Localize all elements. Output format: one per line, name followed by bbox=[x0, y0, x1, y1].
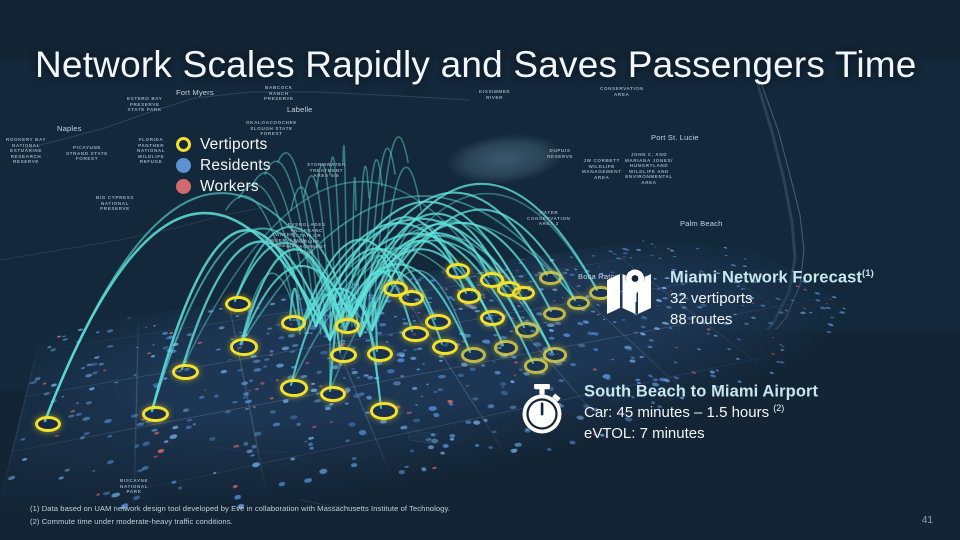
vertiport-marker bbox=[543, 307, 566, 322]
callout-heading-text: Miami Network Forecast bbox=[670, 269, 862, 287]
callout-heading: Miami Network Forecast(1) bbox=[670, 268, 874, 288]
map-label-park: JW CORBETT WILDLIFE MANAGEMENT AREA bbox=[582, 158, 621, 180]
vertiport-marker bbox=[370, 402, 398, 419]
map-label-park: JOHN C. AND MARIANA JONES/ HUNGRYLAND WI… bbox=[625, 152, 673, 186]
map-label-park: BIG CYPRESS NATIONAL PRESERVE bbox=[96, 195, 134, 212]
vertiport-marker bbox=[432, 339, 458, 355]
callout-text-block: South Beach to Miami Airport Car: 45 min… bbox=[584, 382, 818, 445]
vertiport-marker bbox=[399, 290, 424, 306]
vertiport-marker bbox=[281, 315, 306, 331]
vertiport-marker bbox=[425, 314, 451, 330]
map-label-park: STORMWATER TREATMENT AREA-5/6 bbox=[307, 162, 346, 179]
vertiport-marker bbox=[320, 386, 346, 402]
footnotes: (1) Data based on UAM network design too… bbox=[30, 503, 450, 528]
map-label-park: KISSIMMEE RIVER bbox=[479, 89, 510, 100]
legend-label-workers: Workers bbox=[200, 178, 259, 196]
vertiport-marker bbox=[494, 340, 518, 355]
map-label-park: ROOKERY BAY NATIONAL ESTUARINE RESEARCH … bbox=[6, 137, 46, 165]
map-label-park: WATER CONSERVATION AREA 1 bbox=[263, 232, 306, 249]
vertiport-marker bbox=[402, 326, 429, 343]
vertiport-marker bbox=[567, 296, 590, 311]
map-label-city: Port St. Lucie bbox=[651, 133, 699, 142]
vertiport-marker bbox=[225, 296, 251, 312]
vertiport-marker bbox=[524, 358, 548, 373]
callout-line-1-superscript: (2) bbox=[773, 403, 784, 413]
callout-text-block: Miami Network Forecast(1) 32 vertiports … bbox=[670, 268, 874, 331]
map-label-park: DUPUIS RESERVE bbox=[547, 148, 573, 159]
blue-dot-icon bbox=[176, 158, 191, 173]
yellow-ring-icon bbox=[176, 137, 191, 152]
callout-line-1: 32 vertiports bbox=[670, 288, 874, 309]
vertiport-marker bbox=[543, 347, 567, 362]
map-pin-icon bbox=[605, 268, 655, 321]
red-dot-icon bbox=[176, 179, 191, 194]
legend-label-residents: Residents bbox=[200, 157, 271, 175]
footnote-1: (1) Data based on UAM network design too… bbox=[30, 503, 450, 515]
callout-line-1: Car: 45 minutes – 1.5 hours (2) bbox=[584, 402, 818, 423]
callout-line-2: 88 routes bbox=[670, 309, 874, 330]
map-label-park: FLORIDA PANTHER NATIONAL WILDLIFE REFUGE bbox=[137, 137, 165, 165]
map-label-park: ESTERO BAY PRESERVE STATE PARK bbox=[127, 96, 162, 113]
map-label-park: PICAYUNE STRAND STATE FOREST bbox=[66, 145, 108, 162]
page-number: 41 bbox=[922, 515, 933, 526]
vertiport-marker bbox=[35, 416, 61, 432]
vertiport-marker bbox=[330, 347, 357, 364]
stopwatch-icon bbox=[515, 382, 569, 441]
callout-line-1-text: Car: 45 minutes – 1.5 hours bbox=[584, 404, 769, 421]
map-label-park: BABCOCK RANCH PRESERVE bbox=[264, 85, 294, 102]
vertiport-marker bbox=[512, 286, 535, 301]
footnote-2: (2) Commute time under moderate-heavy tr… bbox=[30, 516, 450, 528]
vertiport-marker bbox=[142, 406, 169, 423]
legend-item-vertiports: Vertiports bbox=[176, 134, 271, 155]
callout-line-2: eVTOL: 7 minutes bbox=[584, 423, 818, 444]
map-label-city: Labelle bbox=[287, 105, 313, 114]
map-label-park: WATER CONSERVATION AREA 2 bbox=[527, 210, 570, 227]
callout-miami-network-forecast: Miami Network Forecast(1) 32 vertiports … bbox=[605, 268, 874, 331]
page-title: Network Scales Rapidly and Saves Passeng… bbox=[35, 44, 917, 86]
map-legend: Vertiports Residents Workers bbox=[176, 134, 271, 197]
vertiport-marker bbox=[446, 263, 470, 278]
legend-item-residents: Residents bbox=[176, 155, 271, 176]
map-label-city: Naples bbox=[57, 124, 82, 133]
slide-canvas: ESTERO BAY PRESERVE STATE PARKBABCOCK RA… bbox=[0, 0, 960, 540]
map-label-park: BISCAYNE NATIONAL PARK bbox=[120, 478, 148, 495]
map-label-city: Fort Myers bbox=[176, 88, 214, 97]
legend-label-vertiports: Vertiports bbox=[200, 136, 267, 154]
vertiport-marker bbox=[457, 288, 481, 303]
legend-item-workers: Workers bbox=[176, 176, 271, 197]
callout-heading: South Beach to Miami Airport bbox=[584, 382, 818, 402]
vertiport-marker bbox=[172, 364, 199, 381]
map-label-park: CONSERVATION AREA bbox=[600, 86, 643, 97]
vertiport-marker bbox=[335, 318, 360, 334]
map-label-city: Palm Beach bbox=[680, 219, 722, 228]
vertiport-marker bbox=[515, 322, 539, 337]
vertiport-marker bbox=[461, 347, 486, 363]
callout-south-beach-to-airport: South Beach to Miami Airport Car: 45 min… bbox=[515, 382, 818, 445]
vertiport-marker bbox=[480, 310, 505, 326]
vertiport-marker bbox=[367, 346, 393, 362]
callout-heading-text: South Beach to Miami Airport bbox=[584, 383, 818, 401]
vertiport-marker bbox=[230, 338, 258, 355]
vertiport-marker bbox=[280, 379, 308, 396]
callout-heading-superscript: (1) bbox=[862, 268, 874, 279]
vertiport-marker bbox=[539, 271, 562, 286]
